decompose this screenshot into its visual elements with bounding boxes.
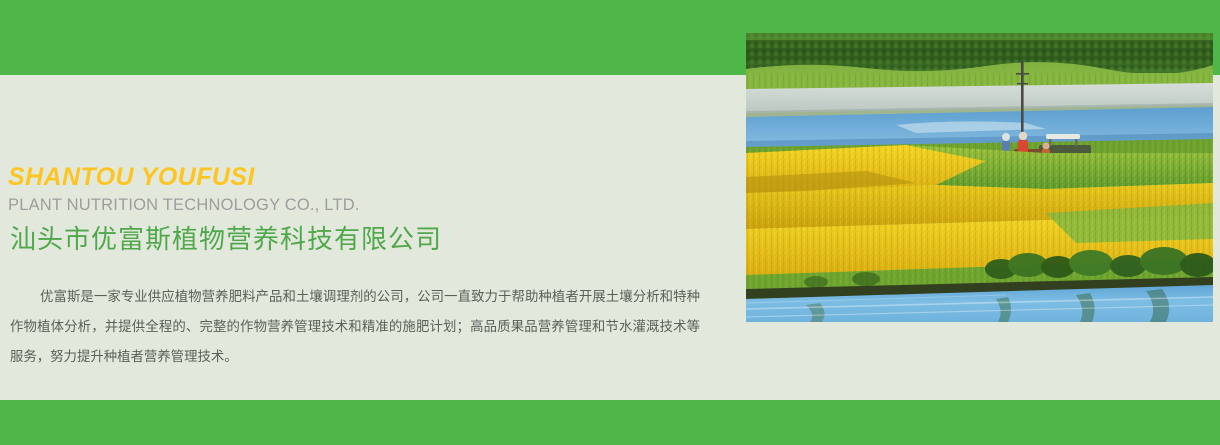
company-subtitle-english: PLANT NUTRITION TECHNOLOGY CO., LTD. (8, 195, 718, 216)
company-intro-block: SHANTOU YOUFUSI PLANT NUTRITION TECHNOLO… (8, 163, 718, 373)
page-root: SHANTOU YOUFUSI PLANT NUTRITION TECHNOLO… (0, 0, 1220, 445)
company-title-english: SHANTOU YOUFUSI (8, 163, 718, 191)
company-about-paragraph: 优富斯是一家专业供应植物营养肥料产品和土壤调理剂的公司，公司一直致力于帮助种植者… (10, 283, 700, 372)
rice-field-photo (746, 33, 1213, 322)
bottom-green-band (0, 400, 1220, 445)
rice-field-illustration (746, 33, 1213, 322)
company-title-chinese: 汕头市优富斯植物营养科技有限公司 (10, 224, 718, 258)
